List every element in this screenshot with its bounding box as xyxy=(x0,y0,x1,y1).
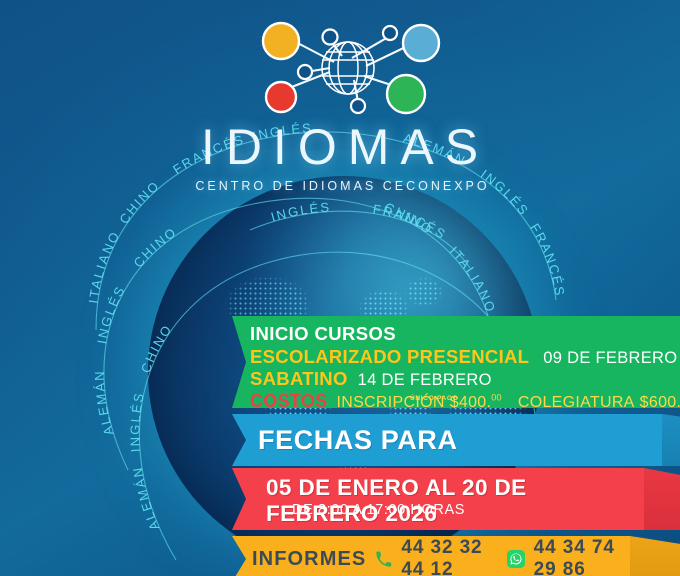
red-dates-panel: 05 DE ENERO AL 20 DE FEBRERO 2026 DE 8:0… xyxy=(232,468,644,530)
sabatino-date: 14 DE FEBRERO xyxy=(358,371,492,389)
inscripcion-cents: 00 xyxy=(491,392,502,402)
unico-pago-footnote: ÚNICO PAGO xyxy=(410,395,458,402)
informes-label: INFORMES xyxy=(252,548,366,571)
yellow-contact-panel: INFORMES 44 32 32 44 12 44 34 74 29 8 xyxy=(232,536,630,576)
poster-root: ITALIANO CHINO FRANCÉS INGLÉS ALEMÁN ING… xyxy=(0,0,680,576)
green-info-panel: INICIO CURSOS ESCOLARIZADO PRESENCIAL09 … xyxy=(232,316,680,408)
svg-text:FRANCÉS: FRANCÉS xyxy=(527,221,567,299)
fechas-inscripciones-title: FECHAS PARA INSCRIPCIONES xyxy=(258,414,662,466)
escolarizado-date: 09 DE FEBRERO xyxy=(543,349,677,367)
banner-stack: INICIO CURSOS ESCOLARIZADO PRESENCIAL09 … xyxy=(0,310,680,576)
red-panel-fold xyxy=(644,468,680,530)
blue-title-panel: FECHAS PARA INSCRIPCIONES xyxy=(232,414,662,466)
escolarizado-row: ESCOLARIZADO PRESENCIAL09 DE FEBRERO xyxy=(250,346,670,369)
colegiatura-amount: $600. xyxy=(640,394,680,411)
inicio-cursos-heading: INICIO CURSOS xyxy=(250,323,670,346)
yellow-panel-fold xyxy=(630,536,680,576)
svg-text:ITALIANO: ITALIANO xyxy=(86,228,124,304)
brand-title: IDIOMAS xyxy=(0,122,680,172)
inscription-hours: DE 8:00 A 17:00 HORAS xyxy=(292,502,465,518)
phone-number[interactable]: 44 32 32 44 12 xyxy=(401,537,497,576)
whatsapp-icon xyxy=(507,550,525,568)
costos-label: COSTOS xyxy=(250,391,327,411)
phone-icon xyxy=(375,551,392,568)
whatsapp-number[interactable]: 44 34 74 29 86 xyxy=(534,537,630,576)
costos-row: COSTOSINSCRIPCIÓN$400.00COLEGIATURA$600.… xyxy=(250,391,670,413)
sabatino-row: SABATINO14 DE FEBRERO xyxy=(250,368,670,391)
brand-subtitle: CENTRO DE IDIOMAS CECONEXPO xyxy=(0,179,680,193)
inscription-date-range: 05 DE ENERO AL 20 DE FEBRERO 2026 xyxy=(266,475,644,527)
colegiatura-label: COLEGIATURA xyxy=(518,394,635,411)
blue-panel-fold xyxy=(662,414,680,466)
logo-block: IDIOMAS CENTRO DE IDIOMAS CECONEXPO xyxy=(0,14,680,193)
network-globe-icon xyxy=(230,14,450,118)
svg-text:CHINO: CHINO xyxy=(131,224,180,270)
escolarizado-label: ESCOLARIZADO PRESENCIAL xyxy=(250,346,529,367)
sabatino-label: SABATINO xyxy=(250,368,348,389)
